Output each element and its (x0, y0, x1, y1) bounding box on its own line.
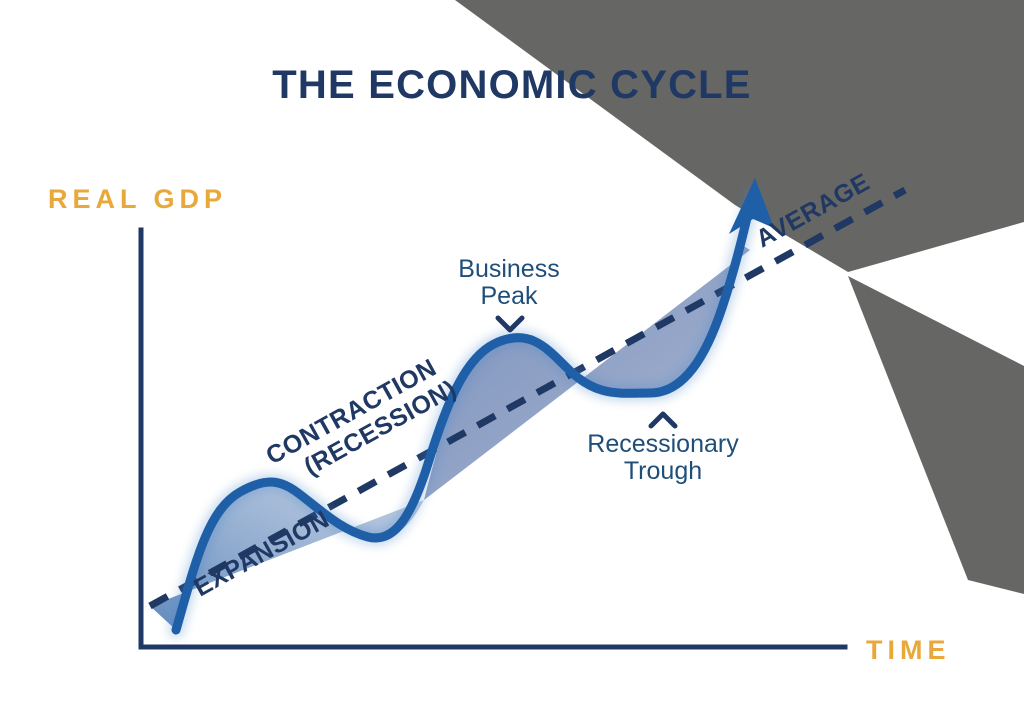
callout-recessionary-trough: Recessionary Trough (587, 414, 739, 485)
recessionary-trough-label-line1: Recessionary (587, 430, 739, 458)
business-peak-label-line2: Peak (481, 282, 538, 310)
y-axis-label: REAL GDP (48, 184, 227, 214)
x-axis-label: TIME (866, 635, 951, 665)
callout-business-peak: Business Peak (458, 255, 559, 330)
page-title: THE ECONOMIC CYCLE (272, 63, 751, 107)
diagram-canvas: THE ECONOMIC CYCLE REAL GDP TIME Busines… (0, 0, 1024, 717)
chevron-down-icon (498, 318, 522, 330)
business-peak-label-line1: Business (458, 255, 559, 283)
recessionary-trough-label-line2: Trough (624, 457, 702, 485)
economic-cycle-diagram: THE ECONOMIC CYCLE REAL GDP TIME Busines… (0, 0, 1024, 717)
gray-polygon-right-icon (848, 276, 1024, 594)
chevron-up-icon (651, 414, 675, 426)
